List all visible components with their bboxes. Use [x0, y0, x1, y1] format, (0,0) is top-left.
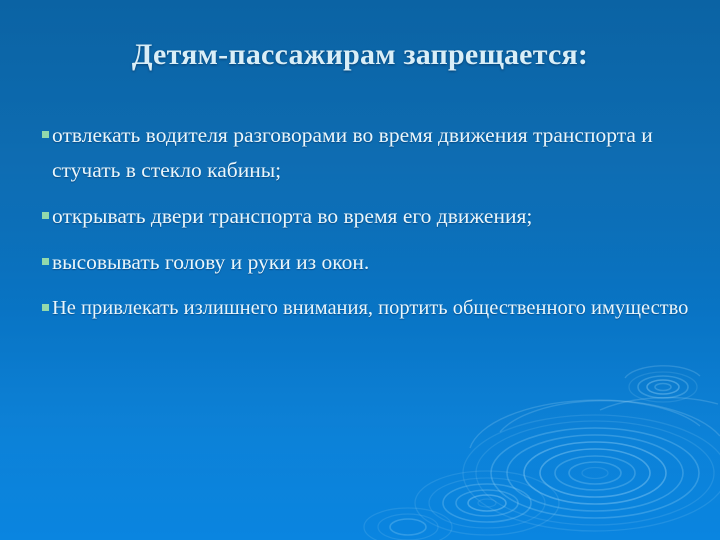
square-bullet-icon: [42, 212, 49, 219]
square-bullet-icon: [42, 258, 49, 265]
list-item: Не привлекать излишнего внимания, портит…: [42, 291, 690, 326]
ripple-large-main: [463, 400, 720, 531]
ripple-small-top: [625, 366, 700, 402]
square-bullet-icon: [42, 131, 49, 138]
presentation-slide: Детям-пассажирам запрещается: отвлекать …: [0, 0, 720, 540]
list-item-label: Не привлекать излишнего внимания, портит…: [52, 291, 690, 326]
slide-title: Детям-пассажирам запрещается:: [38, 38, 682, 72]
list-item-label: открывать двери транспорта во время его …: [52, 199, 690, 234]
ripple-sweep-arc: [600, 398, 718, 410]
list-item: отвлекать водителя разговорами во время …: [42, 118, 690, 188]
bullet-list: отвлекать водителя разговорами во время …: [42, 118, 690, 337]
ripple-medium-left: [415, 471, 559, 535]
list-item-label: отвлекать водителя разговорами во время …: [52, 118, 690, 188]
list-item-label: высовывать голову и руки из окон.: [52, 245, 690, 280]
list-item: открывать двери транспорта во время его …: [42, 199, 690, 234]
list-item: высовывать голову и руки из окон.: [42, 245, 690, 280]
square-bullet-icon: [42, 304, 49, 311]
ripple-small-bottom: [364, 508, 452, 540]
